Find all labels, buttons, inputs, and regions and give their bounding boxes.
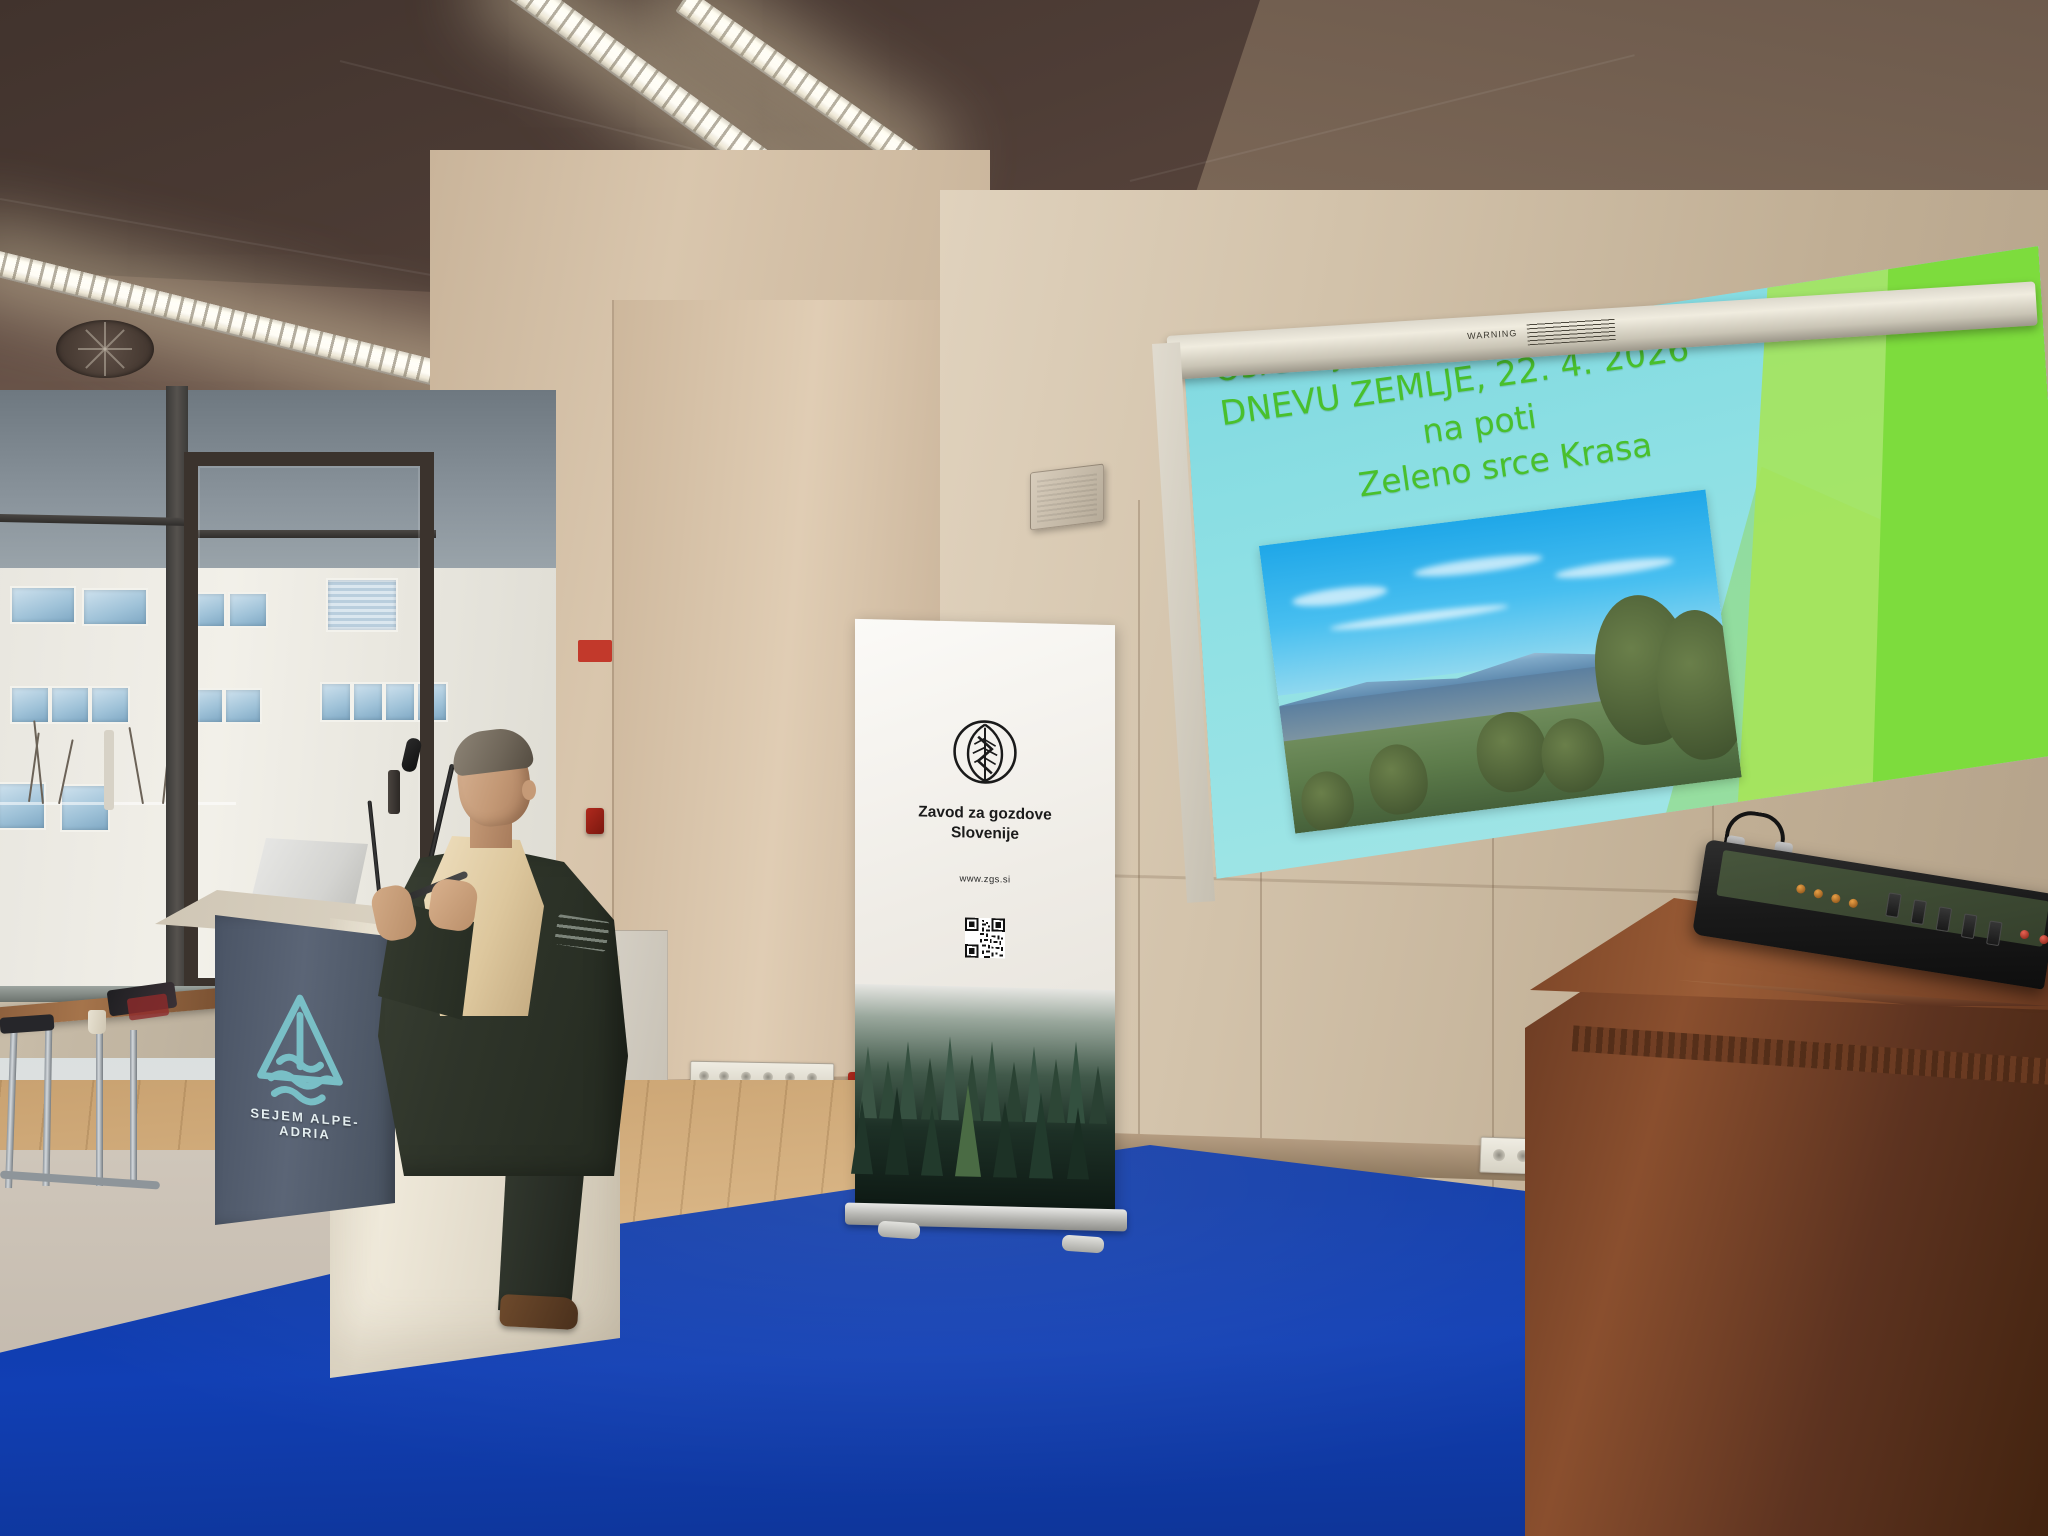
table-leg [96, 1026, 103, 1186]
slide-landscape-photo [1259, 490, 1742, 834]
wooden-control-desk [1525, 930, 2048, 1536]
table-leg [130, 1030, 137, 1182]
exterior-post [104, 730, 114, 810]
ceiling-vent-icon [56, 320, 154, 378]
exterior-window [90, 686, 130, 724]
roll-up-banner: Zavod za gozdove Slovenije www.zgs.si [855, 619, 1115, 1220]
exterior-window [50, 686, 90, 724]
warning-label: WARNING [1467, 328, 1518, 341]
coffee-cup [88, 1010, 106, 1034]
presenter-shoe [499, 1294, 579, 1330]
exterior-window [82, 588, 148, 626]
banner-foot [877, 1221, 920, 1240]
exterior-window [10, 686, 50, 724]
presenter-ear [522, 780, 536, 800]
banner-website: www.zgs.si [855, 871, 1115, 888]
door-handle[interactable] [388, 770, 400, 814]
fire-alarm-icon [586, 808, 604, 834]
exterior-window [0, 782, 46, 830]
wall-speaker-icon [1030, 463, 1104, 530]
exit-sign [578, 640, 612, 662]
alpe-adria-logo: SEJEM ALPE-ADRIA [240, 984, 370, 1145]
qr-code-icon [965, 918, 1005, 959]
banner-foot [1061, 1235, 1104, 1254]
zgs-logo-icon [947, 713, 1023, 791]
wall-seam [1138, 500, 1140, 1160]
exterior-window [60, 784, 110, 832]
banner-organisation-name: Zavod za gozdove Slovenije [855, 801, 1115, 848]
banner-forest-image [855, 984, 1115, 1220]
warning-stripes [1527, 318, 1616, 345]
mountain-wave-icon [240, 984, 360, 1114]
exterior-window [10, 586, 76, 624]
conference-room-photo: Zavod za gozdove Slovenije www.zgs.si [0, 0, 2048, 1536]
presenter-right-hand [427, 877, 480, 933]
